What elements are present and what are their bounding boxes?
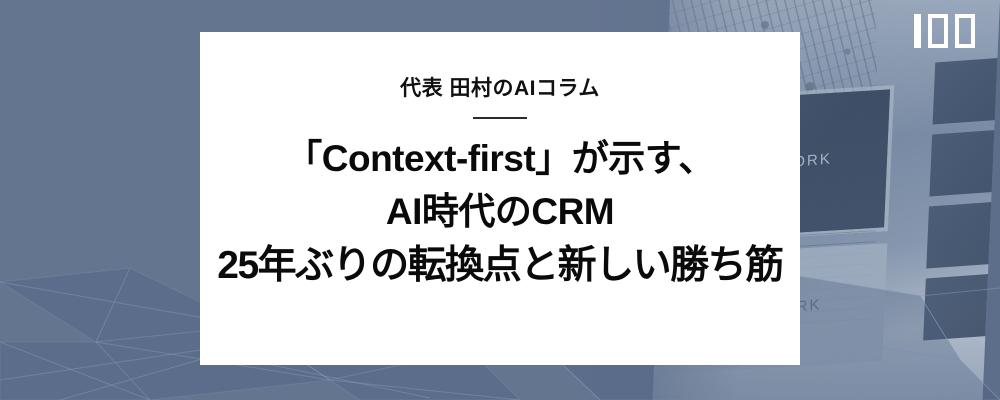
- title-line-1: 「Context-first」が示す、: [285, 133, 714, 186]
- column-eyebrow-label: 代表 田村のAIコラム: [400, 78, 600, 99]
- eyebrow-divider: [473, 117, 527, 119]
- logo-digit-zero-second-icon: [955, 14, 975, 48]
- title-line-3: 25年ぶりの転換点と新しい勝ち筋: [217, 238, 782, 293]
- logo-100[interactable]: 100: [914, 14, 975, 48]
- logo-digit-zero-first-icon: [928, 14, 948, 48]
- article-header-banner: 6G NETWORK 6G NETWORK: [0, 0, 1000, 400]
- title-card: 代表 田村のAIコラム 「Context-first」が示す、 AI時代のCRM…: [200, 32, 800, 365]
- title-line-2: AI時代のCRM: [386, 186, 614, 239]
- logo-digit-one-icon: [914, 14, 921, 48]
